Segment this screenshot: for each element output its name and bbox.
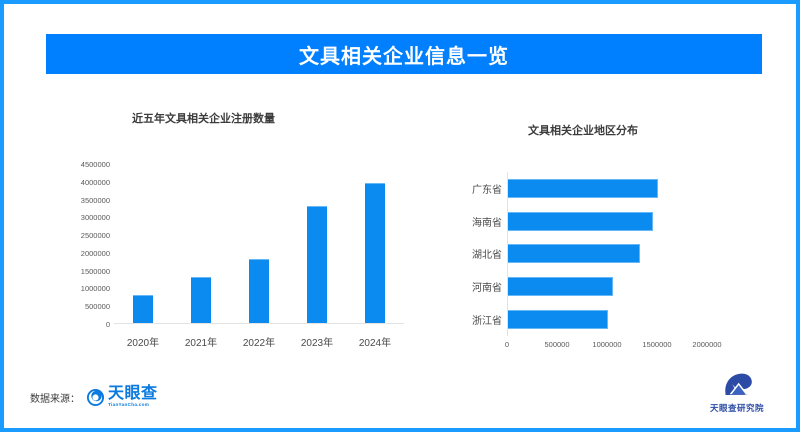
left-chart-y-tick: 1500000 — [81, 267, 110, 276]
left-chart-y-tick: 500000 — [85, 302, 110, 311]
right-chart-bar — [508, 244, 640, 263]
data-source-label: 数据来源： — [30, 390, 80, 405]
right-chart-bar — [508, 310, 608, 329]
tianyancha-logo-cn: 天眼查 — [108, 386, 158, 402]
right-chart-category-label: 广东省 — [450, 172, 502, 205]
left-chart-x-axis-labels: 2020年2021年2022年2023年2024年 — [114, 334, 404, 349]
data-source: 数据来源： 天眼查 TianYanCha.com — [30, 386, 158, 408]
tianyancha-eye-icon — [86, 388, 105, 407]
left-chart-title: 近五年文具相关企业注册数量 — [132, 110, 275, 126]
right-chart-category-label: 河南省 — [450, 270, 502, 303]
left-chart-bar — [133, 295, 153, 323]
left-chart-y-axis-labels: 0500000100000015000002000000250000030000… — [52, 157, 110, 331]
left-chart-bar — [191, 277, 211, 323]
left-chart-x-tick: 2022年 — [230, 334, 288, 349]
tianyancha-logo-en: TianYanCha.com — [108, 403, 158, 408]
left-chart-bar-slot — [346, 164, 404, 323]
research-institute-logo-icon — [720, 372, 754, 400]
left-chart-bar — [365, 183, 385, 323]
left-chart-x-tick: 2020年 — [114, 334, 172, 349]
page-border: 文具相关企业信息一览 近五年文具相关企业注册数量 050000010000001… — [0, 0, 800, 432]
left-chart-x-tick: 2024年 — [346, 334, 404, 349]
right-chart-bar — [508, 179, 658, 198]
left-chart-y-tick: 4500000 — [81, 160, 110, 169]
right-chart-bar — [508, 212, 653, 231]
right-chart-bar-row — [508, 172, 708, 205]
right-chart-category-label: 湖北省 — [450, 238, 502, 271]
left-chart-y-tick: 0 — [106, 320, 110, 329]
left-chart-x-tick: 2023年 — [288, 334, 346, 349]
right-chart-category-label: 浙江省 — [450, 303, 502, 336]
brand-footer: 天眼查研究院 — [710, 372, 764, 414]
left-chart-bar-slot — [172, 164, 230, 323]
right-chart-x-tick: 0 — [505, 340, 509, 349]
left-chart-plot-area — [114, 164, 404, 324]
left-chart-bars — [114, 164, 404, 323]
left-chart-x-tick: 2021年 — [172, 334, 230, 349]
right-chart-bar-row — [508, 270, 708, 303]
left-chart-bar — [307, 206, 327, 323]
left-chart-bar-slot — [230, 164, 288, 323]
right-chart-category-label: 海南省 — [450, 205, 502, 238]
right-chart-title: 文具相关企业地区分布 — [528, 122, 638, 138]
left-chart-x-axis-line — [114, 323, 404, 324]
title-banner: 文具相关企业信息一览 — [46, 34, 762, 74]
left-chart-y-tick: 1000000 — [81, 284, 110, 293]
right-chart-plot-area — [507, 172, 708, 336]
right-chart-bar — [508, 277, 613, 296]
banner-title: 文具相关企业信息一览 — [299, 40, 509, 69]
left-chart-y-tick: 4000000 — [81, 178, 110, 187]
right-chart-x-tick: 2000000 — [692, 340, 721, 349]
left-chart-bar-slot — [288, 164, 346, 323]
left-chart-y-tick: 3500000 — [81, 196, 110, 205]
infographic-sheet: 文具相关企业信息一览 近五年文具相关企业注册数量 050000010000001… — [4, 4, 796, 428]
right-chart-bars — [508, 172, 708, 336]
research-institute-name: 天眼查研究院 — [710, 402, 764, 414]
left-chart-bar — [249, 259, 269, 323]
right-chart-x-axis-labels: 0500000100000015000002000000 — [487, 340, 728, 352]
left-chart-y-tick: 2500000 — [81, 231, 110, 240]
right-chart-x-tick: 1500000 — [642, 340, 671, 349]
right-chart-bar-row — [508, 303, 708, 336]
right-chart-x-tick: 1000000 — [592, 340, 621, 349]
right-chart-category-labels: 广东省海南省湖北省河南省浙江省 — [450, 172, 502, 336]
right-chart-x-tick: 500000 — [544, 340, 569, 349]
right-chart-bar-row — [508, 238, 708, 271]
left-chart-y-tick: 3000000 — [81, 213, 110, 222]
left-chart-bar-slot — [114, 164, 172, 323]
tianyancha-logo: 天眼查 TianYanCha.com — [86, 386, 158, 408]
left-chart-y-tick: 2000000 — [81, 249, 110, 258]
right-chart-bar-row — [508, 205, 708, 238]
